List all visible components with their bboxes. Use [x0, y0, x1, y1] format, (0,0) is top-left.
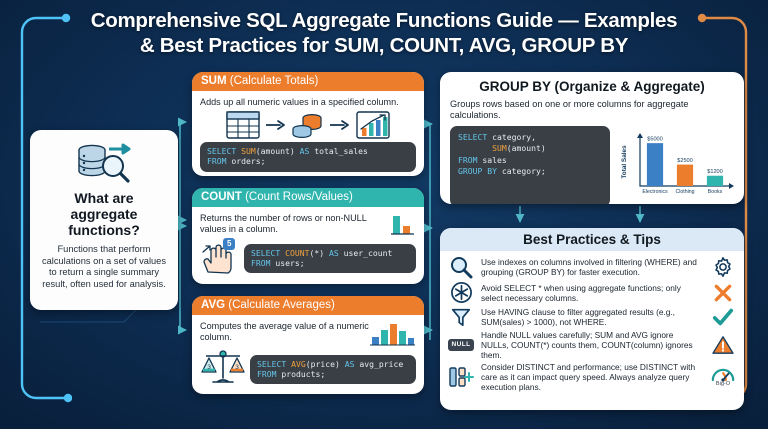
database-magnifier-icon	[73, 140, 135, 186]
groupby-bar-chart: Total Sales$5000Electronics$2500Clothing…	[618, 126, 736, 204]
sum-card: SUM (Calculate Totals) Adds up all numer…	[192, 72, 424, 176]
definition-body: Functions that perform calculations on a…	[39, 244, 169, 290]
svg-text:Electronics: Electronics	[642, 189, 668, 195]
arrow-right-icon	[330, 119, 350, 131]
cross-x-icon	[710, 283, 736, 303]
funnel-filter-icon	[448, 306, 474, 328]
count-header-rest: (Count Rows/Values)	[242, 191, 353, 203]
groupby-code-block: SELECT category, SUM(amount) FROM sales …	[450, 126, 610, 204]
groupby-card: GROUP BY (Organize & Aggregate) Groups r…	[440, 72, 744, 204]
definition-card: What are aggregate functions? Functions …	[30, 130, 178, 310]
gear-icon	[710, 256, 736, 278]
page-title: Comprehensive SQL Aggregate Functions Gu…	[72, 8, 696, 58]
null-tag-icon: NULL	[448, 339, 474, 351]
page-title-line2: & Best Practices for SUM, COUNT, AVG, GR…	[72, 33, 696, 58]
svg-text:$2500: $2500	[677, 158, 693, 164]
definition-title-l3: functions?	[68, 222, 140, 238]
bar-chart-icon	[390, 213, 416, 237]
count-code-block: SELECT COUNT(*) AS user_count FROM users…	[244, 244, 416, 274]
tip-text: Consider DISTINCT and performance; use D…	[481, 362, 703, 392]
avg-card: AVG (Calculate Averages) Computes the av…	[192, 296, 424, 394]
avg-card-header: AVG (Calculate Averages)	[192, 296, 424, 315]
counting-hand-icon: 5	[200, 238, 240, 279]
groupby-description: Groups rows based on one or more columns…	[450, 99, 734, 121]
balance-scale-icon: 3 3	[200, 348, 246, 391]
infographic-root: Comprehensive SQL Aggregate Functions Gu…	[0, 0, 768, 429]
avg-header-bold: AVG	[201, 299, 225, 311]
definition-title-l1: What are	[74, 190, 133, 206]
list-item: Use HAVING clause to filter aggregated r…	[448, 306, 736, 328]
bar-chart-up-icon	[356, 111, 390, 139]
table-icon	[226, 111, 260, 139]
coins-icon	[292, 111, 324, 139]
speedometer-icon: Big-O	[710, 367, 736, 387]
best-practices-title: Best Practices & Tips	[440, 228, 744, 251]
sum-card-header: SUM (Calculate Totals)	[192, 72, 424, 91]
avg-description: Computes the average value of a numeric …	[200, 321, 370, 343]
definition-title: What are aggregate functions?	[68, 190, 140, 238]
asterisk-circle-icon	[448, 281, 474, 304]
bar-chart-icon	[370, 321, 416, 347]
null-tag-label: NULL	[448, 339, 475, 351]
scale-left-value: 3	[207, 364, 211, 371]
list-item: Use indexes on columns involved in filte…	[448, 255, 736, 279]
best-practices-list: Use indexes on columns involved in filte…	[440, 251, 744, 392]
sum-code-block: SELECT SUM(amount) AS total_sales FROM o…	[200, 142, 416, 172]
tip-text: Use HAVING clause to filter aggregated r…	[481, 307, 703, 327]
svg-text:$1200: $1200	[707, 169, 723, 175]
sum-description: Adds up all numeric values in a specifie…	[200, 97, 416, 108]
definition-title-l2: aggregate	[71, 206, 138, 222]
list-item: Consider DISTINCT and performance; use D…	[448, 362, 736, 392]
tip-text: Avoid SELECT * when using aggregate func…	[481, 283, 703, 303]
sum-header-bold: SUM	[201, 75, 227, 87]
count-badge: 5	[223, 238, 235, 250]
svg-text:Clothing: Clothing	[675, 189, 694, 195]
tip-text: Use indexes on columns involved in filte…	[481, 257, 703, 277]
tip-text: Handle NULL values carefully; SUM and AV…	[481, 330, 703, 360]
page-title-line1: Comprehensive SQL Aggregate Functions Gu…	[72, 8, 696, 33]
distinct-columns-icon	[448, 365, 474, 389]
sum-header-rest: (Calculate Totals)	[227, 75, 319, 87]
groupby-title: GROUP BY (Organize & Aggregate)	[450, 79, 734, 94]
svg-text:Books: Books	[708, 189, 723, 195]
count-card-header: COUNT (Count Rows/Values)	[192, 188, 424, 207]
svg-text:Total Sales: Total Sales	[621, 145, 628, 179]
sum-illustration	[200, 108, 416, 142]
best-practices-card: Best Practices & Tips Use indexes on col…	[440, 228, 744, 410]
avg-code-block: SELECT AVG(price) AS avg_price FROM prod…	[250, 355, 416, 385]
list-item: NULL Handle NULL values carefully; SUM a…	[448, 330, 736, 360]
svg-text:$5000: $5000	[647, 137, 663, 143]
checkmark-icon	[710, 306, 736, 328]
avg-header-rest: (Calculate Averages)	[225, 299, 335, 311]
count-card: COUNT (Count Rows/Values) Returns the nu…	[192, 188, 424, 284]
arrow-right-icon	[266, 119, 286, 131]
magnifier-icon	[448, 255, 474, 279]
scale-right-value: 3	[235, 364, 239, 371]
count-header-bold: COUNT	[201, 191, 242, 203]
warning-triangle-icon	[710, 335, 736, 355]
count-description: Returns the number of rows or non-NULL v…	[200, 213, 390, 235]
bigo-label: Big-O	[716, 381, 730, 387]
list-item: Avoid SELECT * when using aggregate func…	[448, 281, 736, 304]
